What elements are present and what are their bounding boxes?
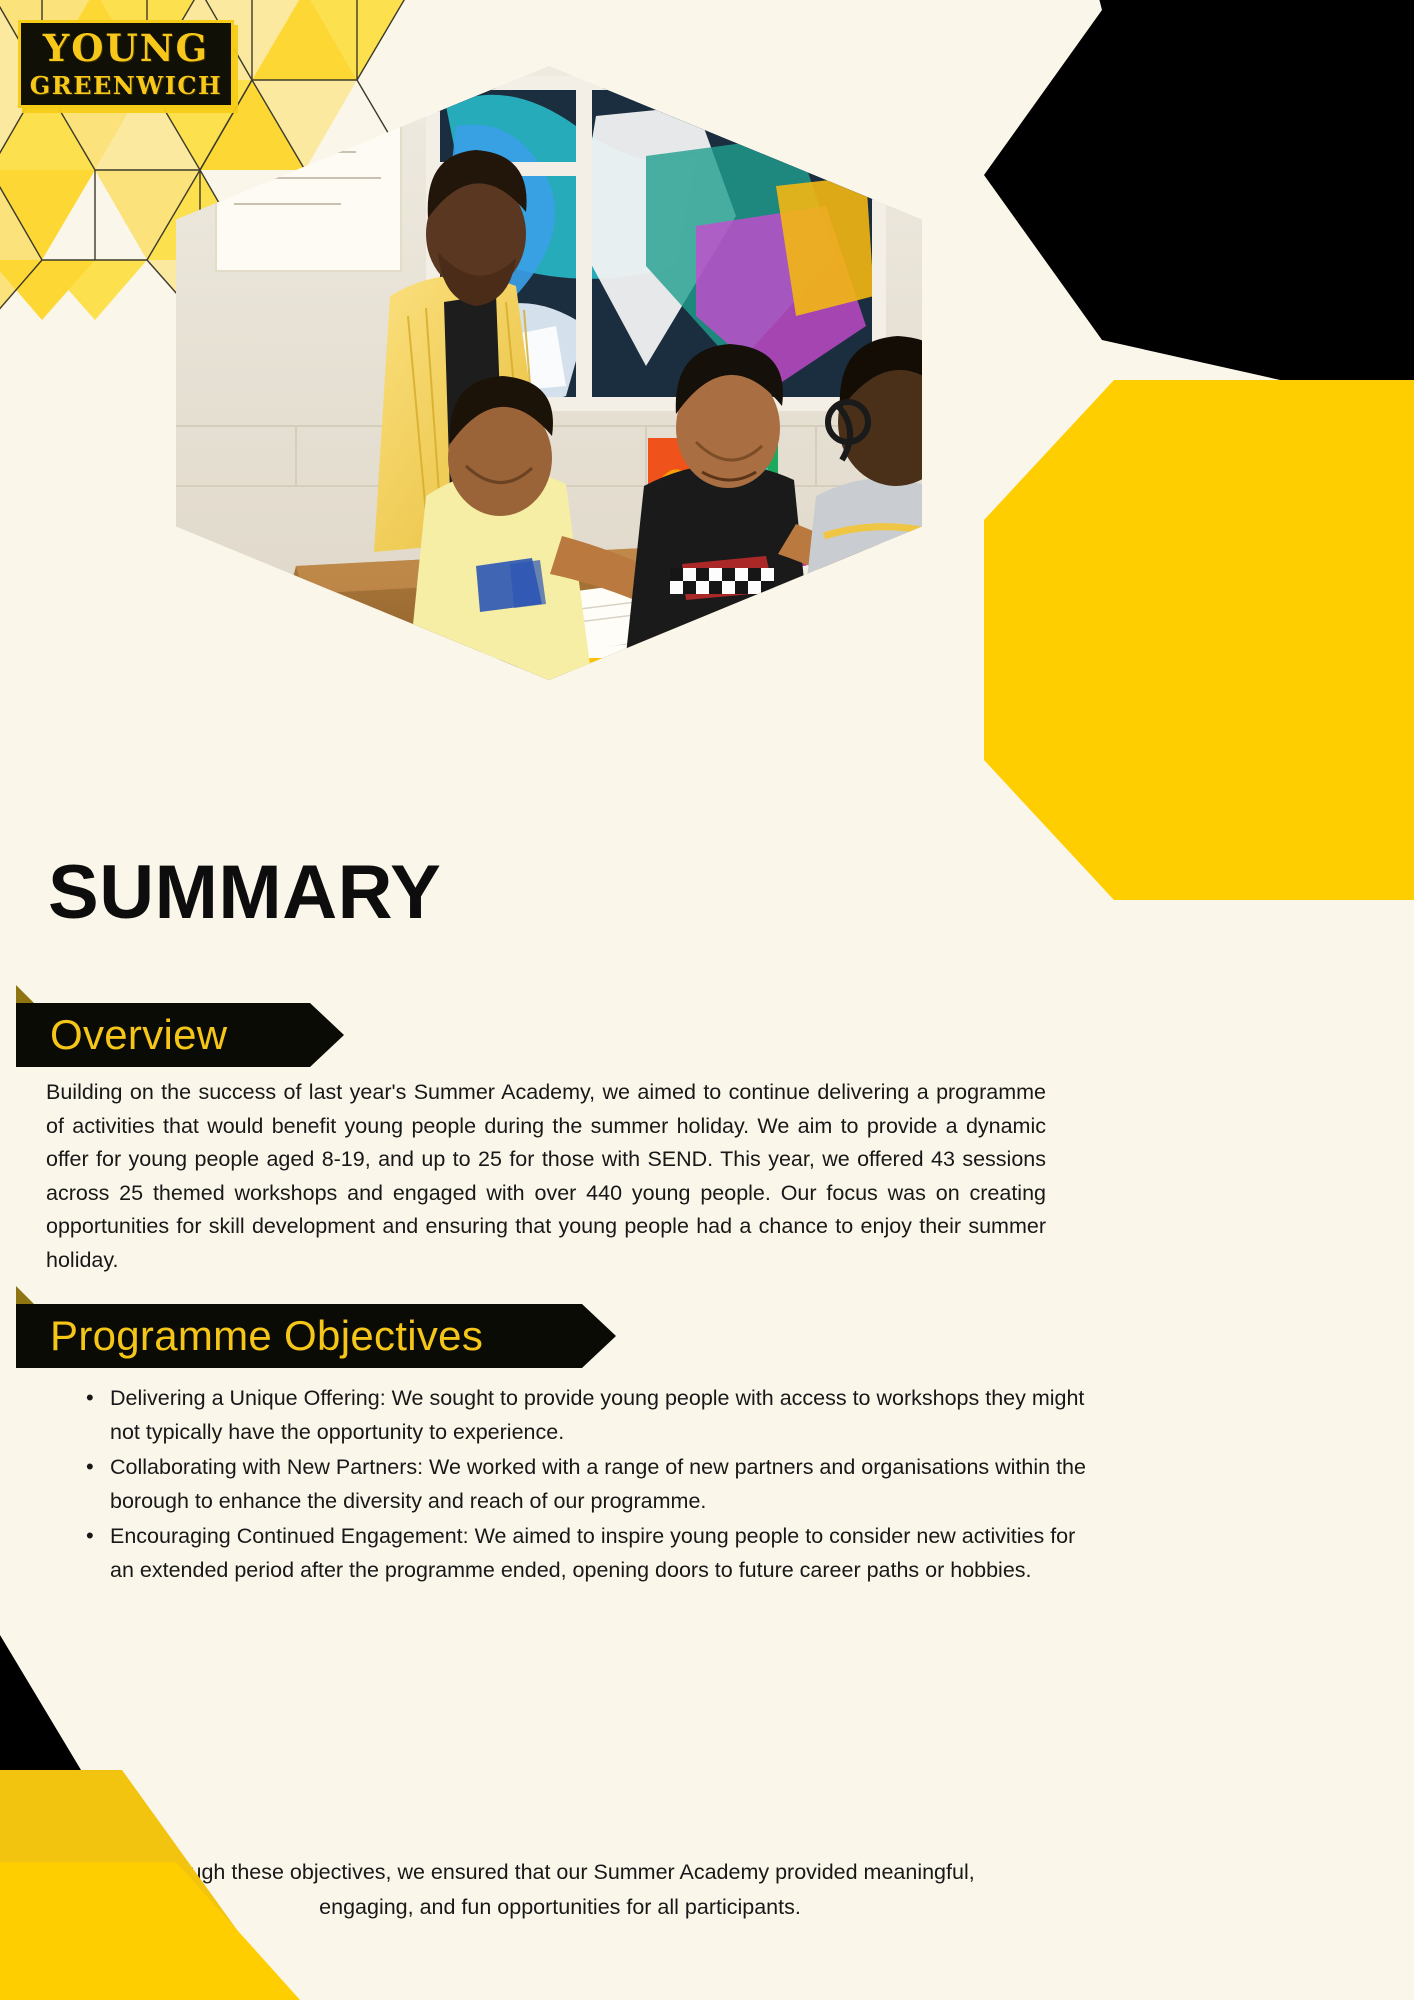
- logo-line-young: YOUNG: [43, 30, 209, 67]
- black-hexagon-decoration: [984, 0, 1414, 410]
- closing-statement: Through these objectives, we ensured tha…: [120, 1855, 1000, 1925]
- hero-photo-illustration: [176, 66, 922, 680]
- section-header-overview-label: Overview: [16, 1014, 227, 1056]
- list-item: Delivering a Unique Offering: We sought …: [86, 1382, 1088, 1449]
- yellow-hexagon-decoration: [984, 380, 1414, 900]
- programme-objectives-list: Delivering a Unique Offering: We sought …: [46, 1382, 1088, 1589]
- poster-page: YOUNG GREENWICH SUMMARY Overview Buildin…: [0, 0, 1414, 2000]
- banner-fold-objectives: [16, 1286, 34, 1304]
- section-header-programme-objectives: Programme Objectives: [16, 1304, 616, 1368]
- young-greenwich-logo: YOUNG GREENWICH: [18, 20, 234, 108]
- list-item: Collaborating with New Partners: We work…: [86, 1451, 1088, 1518]
- page-title: SUMMARY: [48, 855, 441, 931]
- banner-fold-overview: [16, 985, 34, 1003]
- black-triangle-decoration: [0, 1635, 120, 1835]
- section-header-overview: Overview: [16, 1003, 344, 1067]
- logo-line-greenwich: GREENWICH: [30, 74, 222, 98]
- list-item: Encouraging Continued Engagement: We aim…: [86, 1520, 1088, 1587]
- section-header-programme-objectives-label: Programme Objectives: [16, 1315, 483, 1357]
- hero-photo: [176, 66, 922, 680]
- overview-paragraph: Building on the success of last year's S…: [46, 1076, 1046, 1277]
